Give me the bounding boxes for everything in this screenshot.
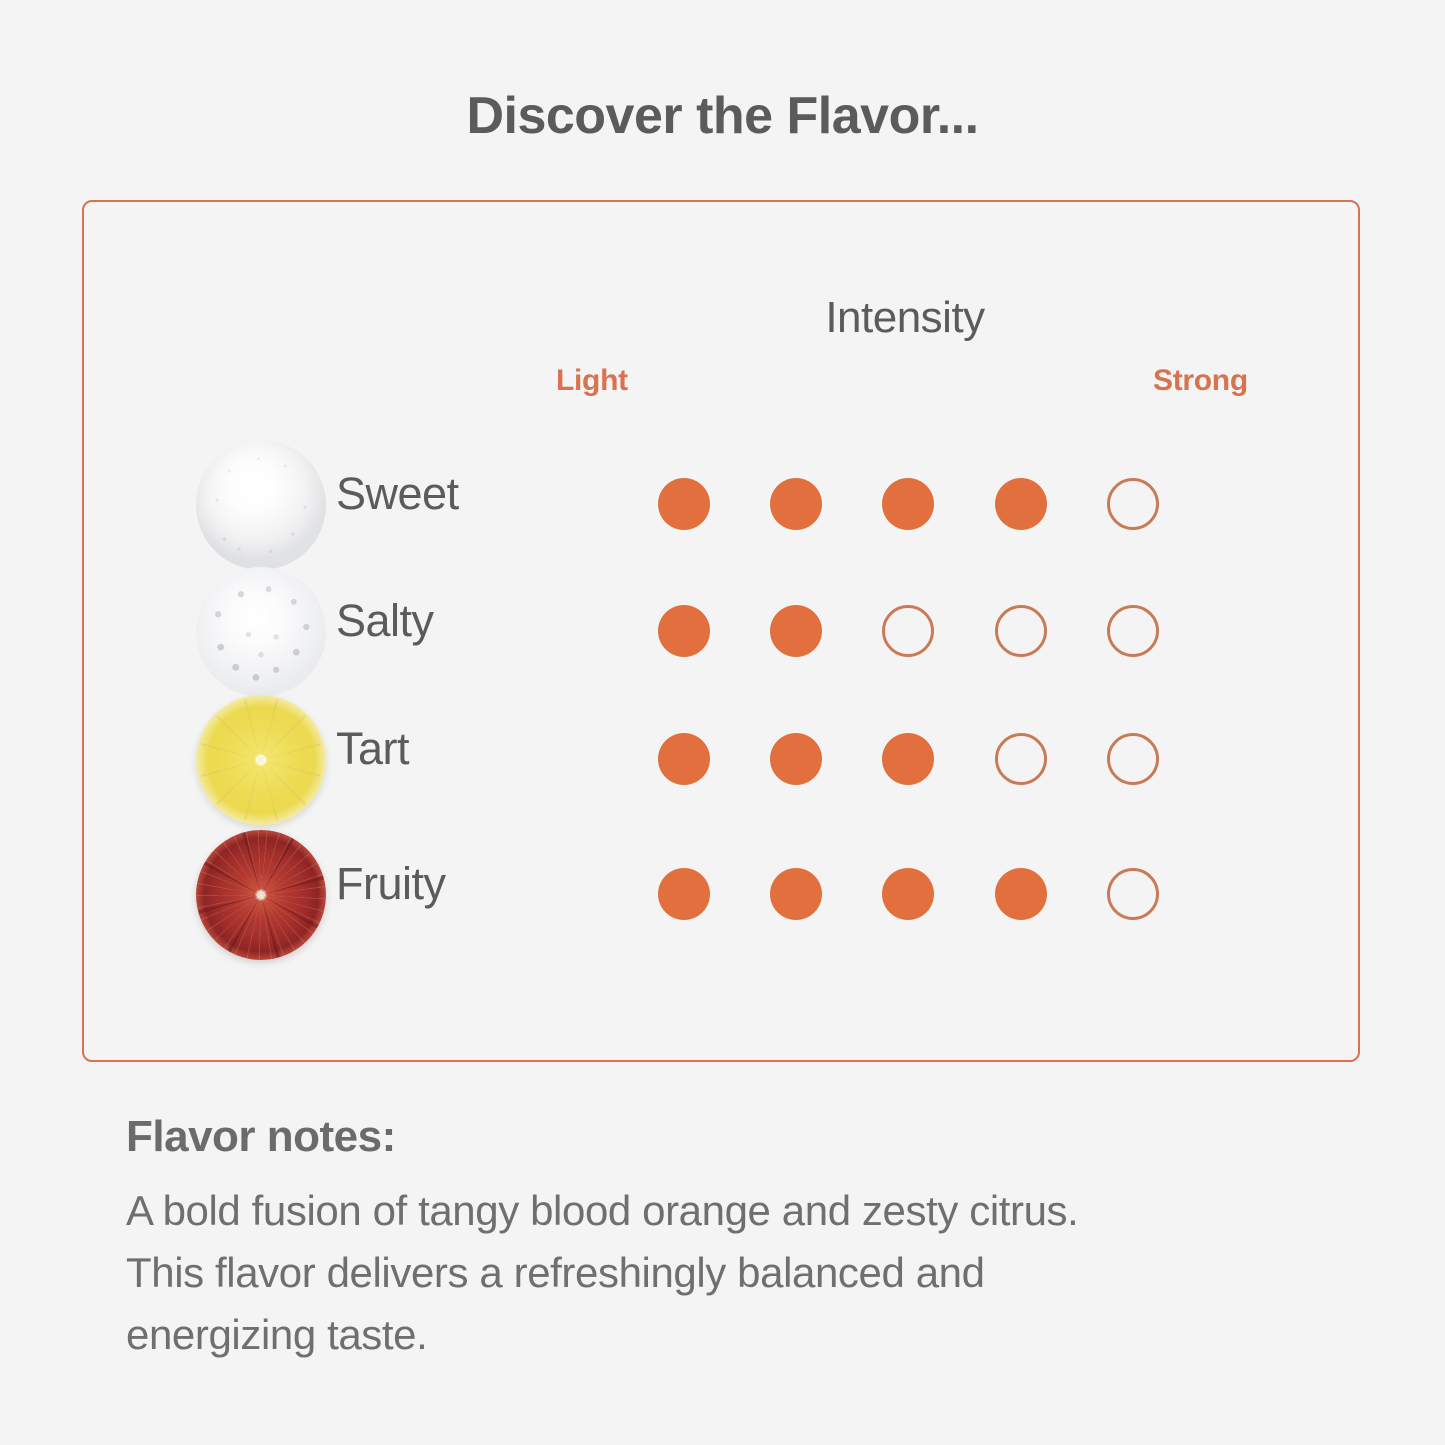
- page-title: Discover the Flavor...: [0, 86, 1445, 146]
- flavor-row-sweet: Sweet: [196, 440, 1196, 572]
- flavor-label-sweet: Sweet: [336, 468, 459, 520]
- scale-label-light: Light: [556, 364, 628, 398]
- intensity-dot[interactable]: [770, 733, 822, 785]
- flavor-row-fruity: Fruity: [196, 830, 1196, 962]
- scale-label-strong: Strong: [1153, 364, 1248, 398]
- intensity-dot[interactable]: [658, 605, 710, 657]
- flavor-label-tart: Tart: [336, 723, 409, 775]
- blood-orange-slice-icon: [196, 830, 326, 960]
- flavor-label-salty: Salty: [336, 595, 434, 647]
- lemon-slice-icon: [196, 695, 326, 825]
- intensity-dot[interactable]: [770, 605, 822, 657]
- intensity-dot[interactable]: [658, 868, 710, 920]
- flavor-notes-line: This flavor delivers a refreshingly bala…: [126, 1242, 1356, 1304]
- intensity-dots-tart: [658, 733, 1188, 789]
- intensity-dot[interactable]: [1107, 605, 1159, 657]
- flavor-notes-heading: Flavor notes:: [126, 1112, 396, 1162]
- intensity-dot[interactable]: [882, 868, 934, 920]
- salt-crystals-icon: [196, 567, 326, 697]
- flavor-notes-body: A bold fusion of tangy blood orange and …: [126, 1180, 1356, 1366]
- intensity-dot[interactable]: [882, 605, 934, 657]
- intensity-dots-fruity: [658, 868, 1188, 924]
- intensity-dot[interactable]: [882, 478, 934, 530]
- intensity-dot[interactable]: [995, 733, 1047, 785]
- intensity-dot[interactable]: [1107, 478, 1159, 530]
- flavor-notes-line: energizing taste.: [126, 1304, 1356, 1366]
- intensity-dot[interactable]: [995, 478, 1047, 530]
- intensity-dot[interactable]: [1107, 733, 1159, 785]
- intensity-dot[interactable]: [1107, 868, 1159, 920]
- sugar-mound-icon: [196, 440, 326, 570]
- intensity-dot[interactable]: [658, 478, 710, 530]
- intensity-dot[interactable]: [658, 733, 710, 785]
- flavor-row-tart: Tart: [196, 695, 1196, 827]
- flavor-notes-line: A bold fusion of tangy blood orange and …: [126, 1180, 1356, 1242]
- intensity-header: Intensity: [705, 293, 1105, 343]
- intensity-dot[interactable]: [770, 868, 822, 920]
- intensity-dot[interactable]: [770, 478, 822, 530]
- flavor-row-salty: Salty: [196, 567, 1196, 699]
- intensity-dot[interactable]: [995, 605, 1047, 657]
- intensity-dot[interactable]: [882, 733, 934, 785]
- flavor-label-fruity: Fruity: [336, 858, 446, 910]
- intensity-dots-salty: [658, 605, 1188, 661]
- intensity-dots-sweet: [658, 478, 1188, 534]
- intensity-dot[interactable]: [995, 868, 1047, 920]
